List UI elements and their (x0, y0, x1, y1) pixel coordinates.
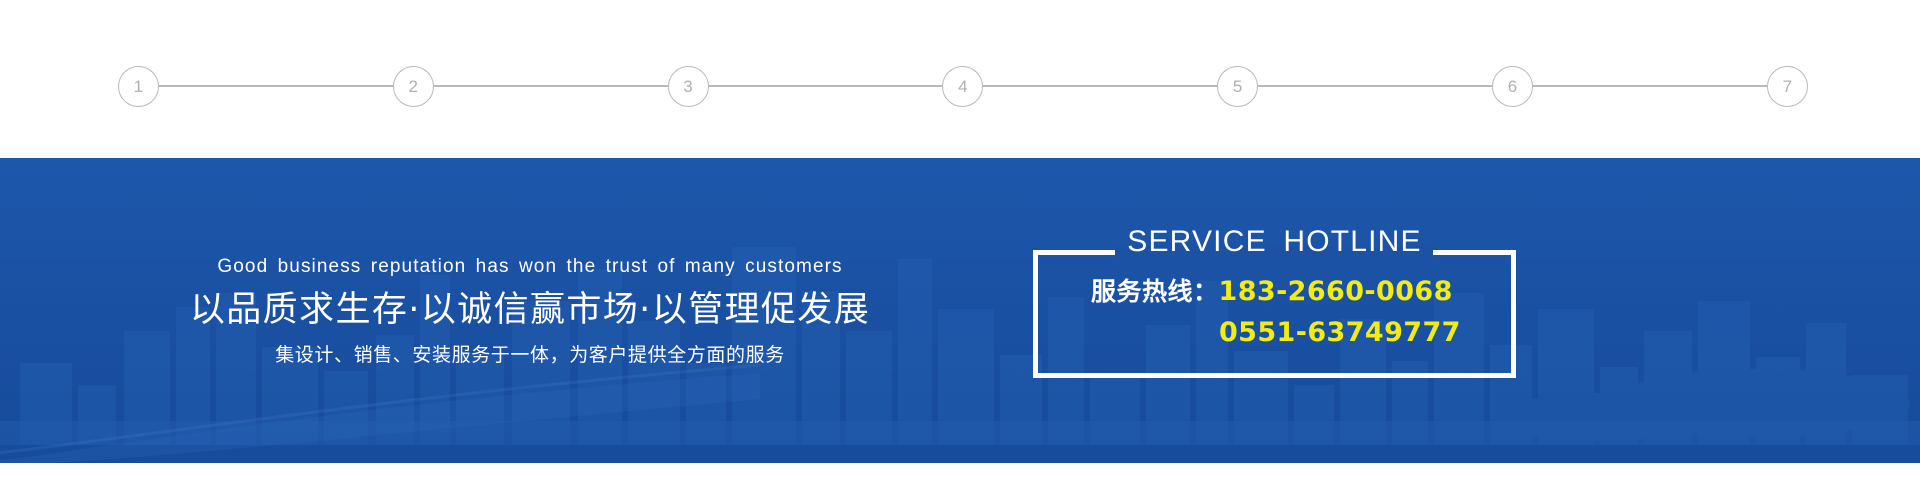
slogan-english: Good business reputation has won the tru… (217, 257, 842, 276)
step-node-1[interactable]: 1 (118, 66, 159, 107)
service-hotline-panel: SERVICE HOTLINE 服务热线： 183-2660-0068 0551… (1033, 250, 1516, 378)
hotline-number-list: 服务热线： 183-2660-0068 0551-63749777 (1033, 278, 1516, 346)
stepper-band: 1 2 3 4 5 6 7 (0, 0, 1920, 158)
step-node-5[interactable]: 5 (1217, 66, 1258, 107)
step-connector-1-2 (159, 85, 393, 88)
hotline-row-secondary: 0551-63749777 (1033, 319, 1516, 346)
step-progress-bar: 1 2 3 4 5 6 7 (118, 56, 1808, 116)
step-node-4[interactable]: 4 (942, 66, 983, 107)
slogan-block: Good business reputation has won the tru… (0, 158, 1000, 463)
hotline-number-primary[interactable]: 183-2660-0068 (1219, 278, 1453, 305)
step-number-6: 6 (1508, 78, 1518, 95)
promo-banner: Good business reputation has won the tru… (0, 158, 1920, 463)
step-number-5: 5 (1233, 78, 1243, 95)
hotline-number-secondary[interactable]: 0551-63749777 (1219, 319, 1461, 346)
step-number-4: 4 (958, 78, 968, 95)
step-number-3: 3 (683, 78, 693, 95)
step-connector-5-6 (1258, 85, 1492, 88)
step-number-7: 7 (1783, 78, 1793, 95)
step-number-2: 2 (408, 78, 418, 95)
step-node-2[interactable]: 2 (393, 66, 434, 107)
page-root: 1 2 3 4 5 6 7 (0, 0, 1920, 500)
step-number-1: 1 (134, 78, 144, 95)
slogan-chinese-headline: 以品质求生存·以诚信赢市场·以管理促发展 (190, 293, 870, 328)
step-connector-3-4 (709, 85, 943, 88)
hotline-row-primary: 服务热线： 183-2660-0068 (1033, 278, 1516, 305)
hotline-title: SERVICE HOTLINE (1033, 227, 1516, 257)
hotline-label: 服务热线： (1091, 279, 1219, 304)
step-node-6[interactable]: 6 (1492, 66, 1533, 107)
slogan-chinese-subline: 集设计、销售、安装服务于一体，为客户提供全方面的服务 (275, 346, 785, 365)
step-connector-6-7 (1533, 85, 1767, 88)
step-connector-2-3 (434, 85, 668, 88)
bottom-white-strip (0, 463, 1920, 500)
step-connector-4-5 (983, 85, 1217, 88)
step-node-3[interactable]: 3 (668, 66, 709, 107)
step-node-7[interactable]: 7 (1767, 66, 1808, 107)
